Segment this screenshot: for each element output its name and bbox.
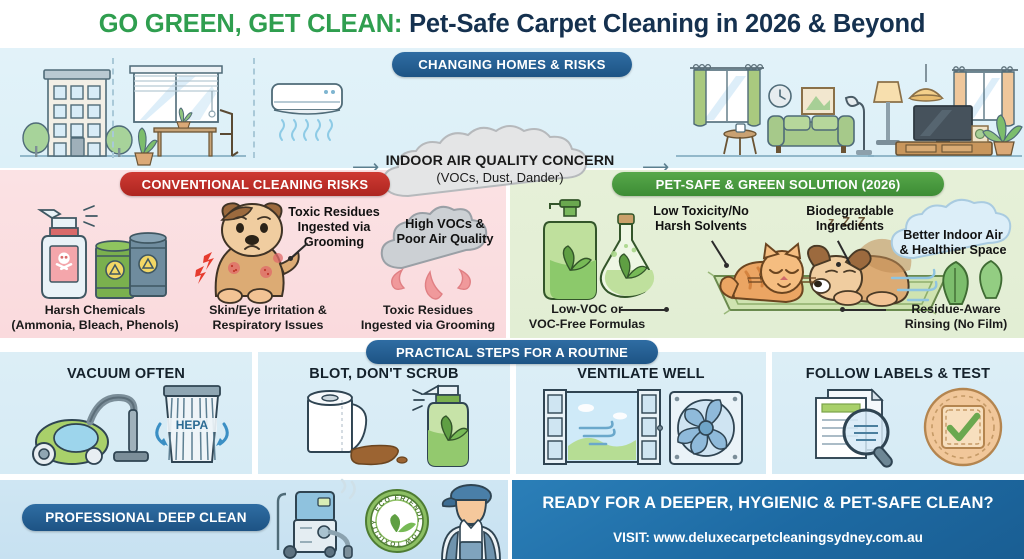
banner-practical-steps: PRACTICAL STEPS FOR A ROUTINE	[366, 340, 658, 364]
cta-section[interactable]: READY FOR A DEEPER, HYGIENIC & PET-SAFE …	[512, 480, 1024, 559]
infographic-root: GO GREEN, GET CLEAN: Pet-Safe Carpet Cle…	[0, 0, 1024, 559]
banner-green-solution: PET-SAFE & GREEN SOLUTION (2026)	[612, 172, 944, 196]
checkmark-patch-icon	[922, 386, 1004, 468]
caption-harsh-chemicals: Harsh Chemicals (Ammonia, Bleach, Phenol…	[0, 303, 190, 332]
title-highlight: GO GREEN, GET CLEAN:	[99, 10, 402, 38]
spray-bottle-and-chemical-drums-icon	[30, 196, 180, 302]
canister-vacuum-icon	[28, 392, 154, 468]
callout-toxic-residues-grooming: Toxic Residues Ingested via Grooming	[278, 205, 390, 250]
callout-high-vocs: High VOCs & Poor Air Quality	[388, 216, 502, 247]
open-window-icon	[542, 390, 662, 466]
window-blinds-table-icon	[120, 64, 248, 160]
green-pump-bottle-icon	[538, 198, 598, 302]
title-rest: Pet-Safe Carpet Cleaning in 2026 & Beyon…	[402, 10, 925, 38]
exhaust-fan-icon	[668, 390, 744, 466]
caption-residue-aware-rinsing: Residue-Aware Rinsing (No Film)	[888, 302, 1024, 331]
living-room-tv-lamp-icon	[868, 60, 1024, 160]
indoor-air-quality-label: INDOOR AIR QUALITY CONCERN (VOCs, Dust, …	[368, 153, 632, 185]
green-spray-bottle-icon	[408, 378, 484, 470]
step-card-follow-labels[interactable]: FOLLOW LABELS & TEST	[772, 352, 1024, 474]
air-conditioner-icon	[268, 82, 346, 144]
page-title: GO GREEN, GET CLEAN: Pet-Safe Carpet Cle…	[0, 0, 1024, 48]
living-room-curtains-sofa-icon	[676, 60, 876, 160]
step-card-blot-dont-scrub[interactable]: BLOT, DON'T SCRUB	[258, 352, 510, 474]
steam-extractor-machine-icon	[272, 484, 368, 558]
svg-text:HEPA: HEPA	[176, 418, 209, 432]
callout-better-indoor-air: Better Indoor Air & Healthier Space	[888, 228, 1018, 258]
caption-low-voc-formulas: Low-VOC or VOC-Free Formulas	[514, 302, 660, 331]
banner-professional-deep-clean: PROFESSIONAL DEEP CLEAN	[22, 504, 270, 531]
banner-changing-homes: CHANGING HOMES & RISKS	[392, 52, 632, 77]
cleaning-technician-icon	[434, 482, 508, 560]
callout-low-toxicity: Low Toxicity/No Harsh Solvents	[636, 204, 766, 234]
step-card-ventilate-well[interactable]: VENTILATE WELL	[516, 352, 766, 474]
cta-headline: READY FOR A DEEPER, HYGIENIC & PET-SAFE …	[512, 494, 1024, 513]
step-title-labels: FOLLOW LABELS & TEST	[772, 366, 1024, 382]
cta-visit-url[interactable]: VISIT: www.deluxecarpetcleaningsydney.co…	[512, 530, 1024, 545]
caption-skin-eye-irritation: Skin/Eye Irritation & Respiratory Issues	[178, 303, 358, 332]
paper-towel-roll-icon	[298, 390, 418, 470]
step-card-vacuum-often[interactable]: VACUUM OFTEN	[0, 352, 252, 474]
eco-friendly-seal-icon: ECO FRIENDLY LOW TOXICITY	[364, 488, 430, 554]
step-title-vacuum: VACUUM OFTEN	[0, 366, 252, 382]
step-title-ventilate: VENTILATE WELL	[516, 366, 766, 382]
document-magnifier-icon	[808, 388, 918, 470]
hepa-filter-icon: HEPA	[150, 384, 234, 466]
caption-toxic-residues: Toxic Residues Ingested via Grooming	[350, 303, 506, 332]
banner-conventional-risks: CONVENTIONAL CLEANING RISKS	[120, 172, 390, 196]
